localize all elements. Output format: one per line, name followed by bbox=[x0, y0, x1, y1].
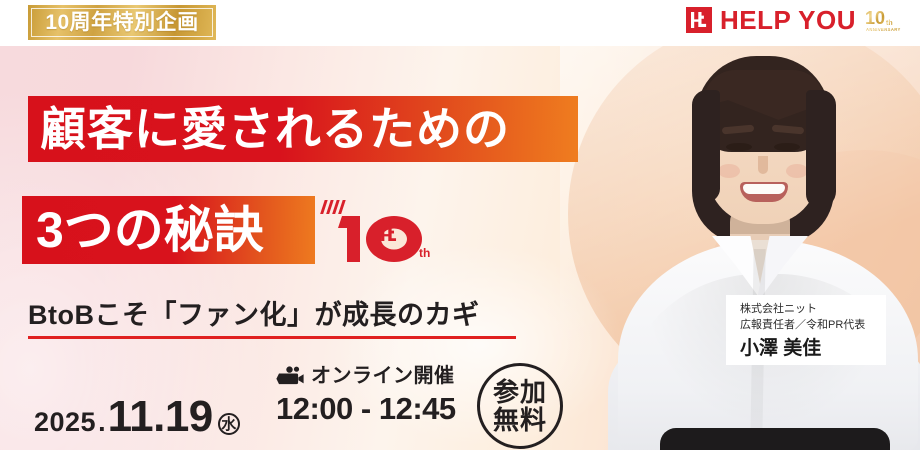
svg-text:th: th bbox=[886, 20, 893, 27]
brand-wordmark: HELP YOU bbox=[720, 7, 856, 33]
headline-band-primary: 顧客に愛されるための bbox=[28, 96, 578, 162]
photo-eye-right bbox=[774, 143, 800, 151]
photo-cheek-left bbox=[718, 164, 740, 178]
event-date-separator: . bbox=[96, 407, 108, 438]
anniversary-badge: 10周年特別企画 bbox=[28, 5, 216, 40]
anniversary-badge-label: 10周年特別企画 bbox=[45, 12, 198, 33]
speaker-photo bbox=[600, 44, 920, 450]
photo-teeth bbox=[743, 184, 785, 194]
event-date: 2025 . 11.19 水 bbox=[34, 392, 240, 442]
subtitle-text: BtoBこそ「ファン化」が成長のカギ bbox=[28, 302, 479, 329]
photo-eye-left bbox=[726, 143, 752, 151]
10th-anniversary-red-logo: th bbox=[320, 196, 438, 266]
free-admission-line-1: 参加 bbox=[493, 378, 547, 406]
svg-text:10: 10 bbox=[865, 8, 885, 28]
photo-skirt bbox=[660, 428, 890, 450]
event-time: 12:00 - 12:45 bbox=[276, 393, 456, 424]
brand-logo[interactable]: HELP YOU 10 th ANNIVERSARY bbox=[686, 6, 908, 34]
headline-band-secondary: 3つの秘訣 bbox=[22, 196, 315, 264]
photo-mouth bbox=[740, 182, 788, 202]
event-format-block: オンライン開催 12:00 - 12:45 bbox=[276, 366, 456, 424]
headline-line-1: 顧客に愛されるための bbox=[40, 106, 510, 152]
help-you-monogram-icon bbox=[686, 7, 712, 33]
photo-hair-side-right bbox=[806, 90, 836, 208]
headline-line-2: 3つの秘訣 bbox=[36, 205, 264, 255]
event-year: 2025 bbox=[34, 407, 96, 438]
speaker-organization: 株式会社ニット bbox=[740, 302, 886, 318]
event-format-row: オンライン開催 bbox=[276, 366, 456, 386]
webinar-banner: 10周年特別企画 HELP YOU 10 th ANNIVERSARY 顧客に愛… bbox=[0, 0, 920, 450]
svg-text:ANNIVERSARY: ANNIVERSARY bbox=[866, 27, 901, 32]
photo-nose bbox=[758, 156, 768, 174]
10th-anniversary-gold-emblem: 10 th ANNIVERSARY bbox=[864, 6, 908, 34]
speaker-card: 株式会社ニット 広報責任者／令和PR代表 小澤 美佳 bbox=[726, 295, 886, 365]
event-month-day: 11.19 bbox=[108, 392, 213, 442]
subtitle-underline bbox=[28, 336, 516, 339]
speaker-name: 小澤 美佳 bbox=[740, 339, 886, 358]
speaker-role: 広報責任者／令和PR代表 bbox=[740, 318, 886, 334]
video-camera-icon bbox=[276, 366, 304, 386]
free-admission-line-2: 無料 bbox=[493, 406, 547, 434]
event-day-of-week: 水 bbox=[218, 413, 240, 435]
free-admission-badge: 参加 無料 bbox=[477, 363, 563, 449]
svg-text:th: th bbox=[419, 246, 430, 260]
event-format-label: オンライン開催 bbox=[311, 366, 455, 386]
photo-hair-side-left bbox=[692, 90, 720, 202]
photo-cheek-right bbox=[786, 164, 808, 178]
